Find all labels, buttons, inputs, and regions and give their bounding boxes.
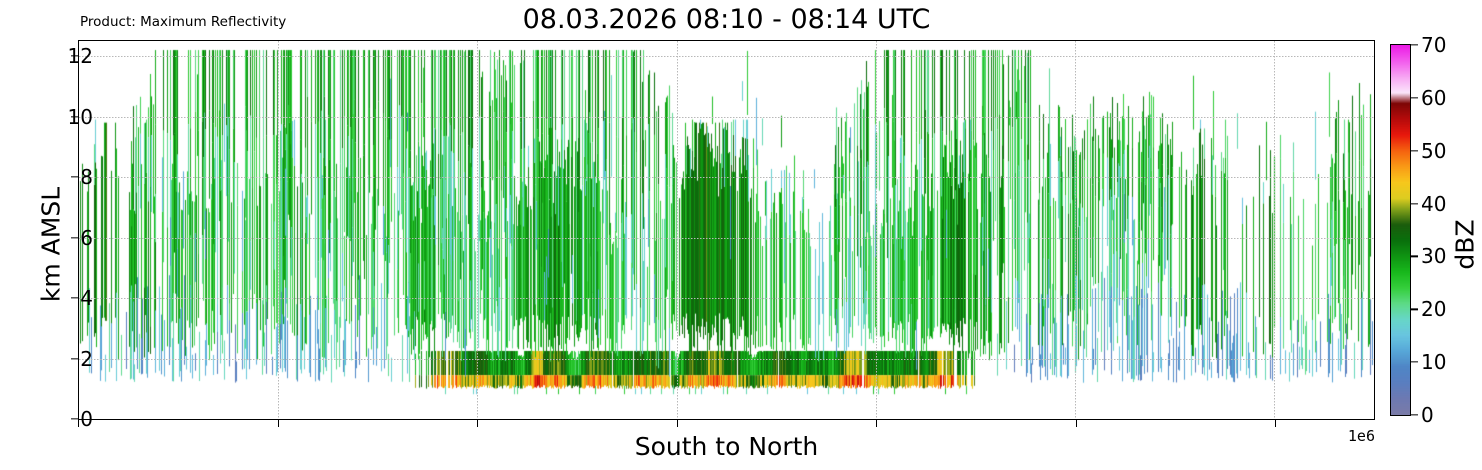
colorbar-label: dBZ: [1451, 165, 1480, 325]
y-tick-mark: [71, 358, 78, 359]
colorbar-tick-mark: [1411, 150, 1418, 151]
x-tick-mark: [876, 420, 877, 427]
plot-area: [78, 40, 1375, 420]
y-tick-label: 4: [80, 286, 93, 310]
y-axis-label: km AMSL: [37, 115, 66, 375]
y-tick-label: 12: [68, 44, 93, 68]
y-tick-label: 6: [80, 226, 93, 250]
colorbar-tick-mark: [1411, 44, 1418, 45]
y-tick-mark: [71, 237, 78, 238]
x-tick-mark: [677, 420, 678, 427]
colorbar-tick-label: 70: [1421, 33, 1446, 57]
y-tick-label: 0: [80, 407, 93, 431]
colorbar-tick-mark: [1411, 361, 1418, 362]
x-axis-label: South to North: [78, 432, 1375, 461]
product-label: Product: Maximum Reflectivity: [80, 14, 286, 30]
colorbar-tick-mark: [1411, 256, 1418, 257]
x-tick-mark: [78, 420, 79, 427]
x-axis-offset-text: 1e6: [1300, 427, 1375, 445]
y-tick-label: 8: [80, 165, 93, 189]
x-tick-mark: [1275, 420, 1276, 427]
colorbar-tick-mark: [1411, 414, 1418, 415]
colorbar-tick-mark: [1411, 309, 1418, 310]
colorbar-tick-label: 40: [1421, 192, 1446, 216]
colorbar-tick-label: 0: [1421, 403, 1434, 427]
y-tick-label: 2: [80, 347, 93, 371]
y-tick-label: 10: [68, 105, 93, 129]
colorbar: [1390, 44, 1411, 416]
colorbar-tick-label: 60: [1421, 86, 1446, 110]
colorbar-tick-label: 10: [1421, 350, 1446, 374]
colorbar-tick-mark: [1411, 203, 1418, 204]
y-tick-mark: [71, 297, 78, 298]
colorbar-gradient: [1391, 45, 1410, 415]
colorbar-tick-label: 20: [1421, 297, 1446, 321]
y-tick-mark: [71, 176, 78, 177]
radar-cross-section-figure: 08.03.2026 08:10 - 08:14 UTC Product: Ma…: [0, 0, 1482, 470]
x-tick-mark: [278, 420, 279, 427]
x-tick-mark: [1076, 420, 1077, 427]
colorbar-tick-label: 30: [1421, 244, 1446, 268]
colorbar-tick-mark: [1411, 97, 1418, 98]
x-tick-mark: [477, 420, 478, 427]
colorbar-tick-label: 50: [1421, 139, 1446, 163]
gridline-horizontal: [79, 419, 1374, 420]
reflectivity-heatmap-canvas: [79, 41, 1374, 419]
y-tick-mark: [71, 418, 78, 419]
